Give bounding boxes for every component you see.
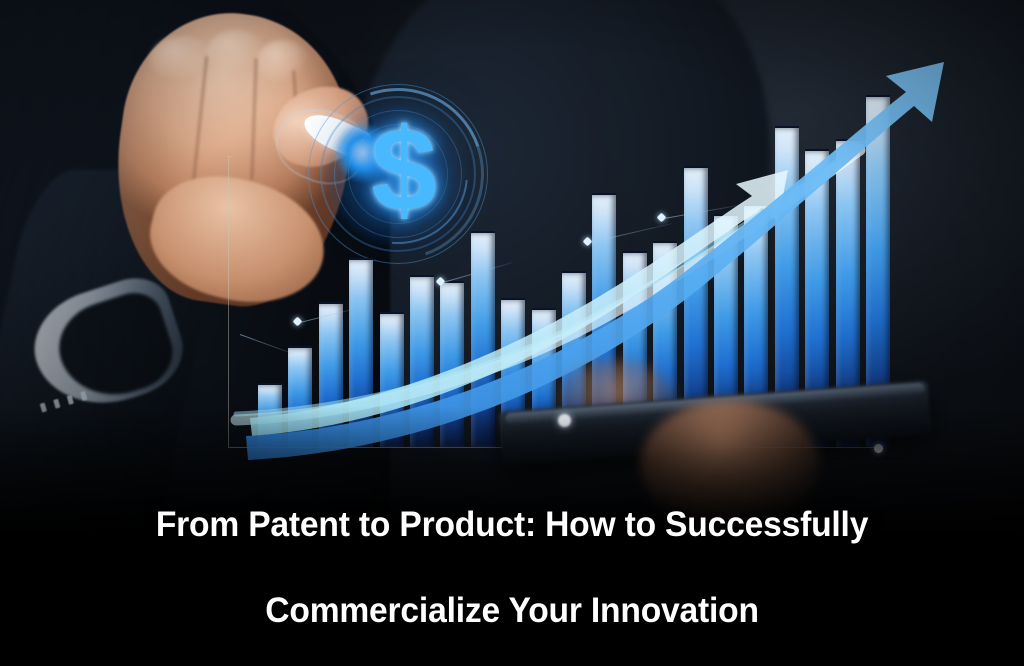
chart-bar: [380, 312, 404, 447]
chart-bar: [440, 281, 464, 447]
title-line-2: Commercialize Your Innovation: [265, 591, 759, 631]
poster-title: From Patent to Product: How to Successfu…: [0, 470, 1024, 666]
baseline-end-dot: [874, 444, 883, 453]
tablet-highlight-dot: [558, 414, 571, 427]
chart-bar: [258, 383, 282, 447]
chart-bar: [471, 231, 495, 447]
chart-bar: [288, 346, 312, 447]
poster-canvas: $: [0, 0, 1024, 666]
chart-bar: [410, 275, 434, 447]
title-line-1: From Patent to Product: How to Successfu…: [156, 505, 868, 545]
chart-bar: [319, 302, 343, 447]
chart-bar: [349, 258, 373, 447]
